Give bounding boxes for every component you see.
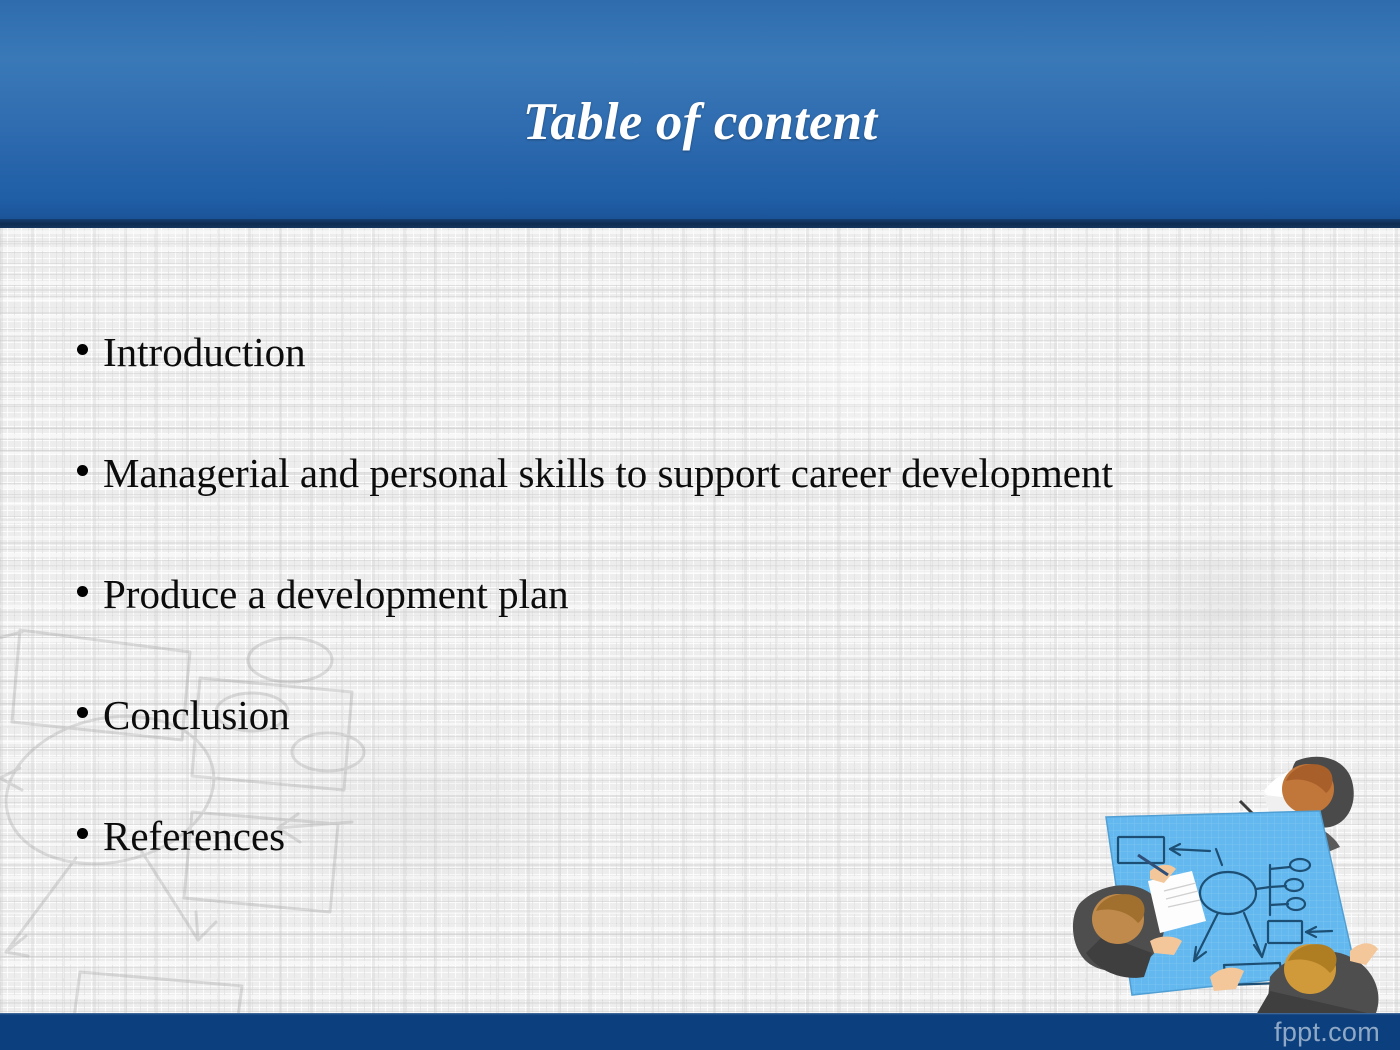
page-title: Table of content (0, 96, 1400, 149)
team-planning-blueprint-illustration-icon (1064, 753, 1394, 1038)
bullet-dot-icon (77, 586, 88, 597)
slide-footer-band: fppt.com (0, 1013, 1400, 1050)
bullet-dot-icon (77, 828, 88, 839)
list-item-label: Managerial and personal skills to suppor… (103, 450, 1113, 496)
list-item: Produce a development plan (66, 542, 1328, 647)
presentation-slide: Table of content Introduction Managerial… (0, 0, 1400, 1050)
list-item: Managerial and personal skills to suppor… (66, 421, 1328, 526)
bullet-dot-icon (77, 707, 88, 718)
fppt-logo: fppt.com (1274, 1016, 1380, 1048)
list-item-label: Produce a development plan (103, 571, 569, 617)
bullet-dot-icon (77, 465, 88, 476)
list-item-label: Introduction (103, 329, 306, 375)
slide-header-band: Table of content (0, 0, 1400, 228)
bullet-dot-icon (77, 344, 88, 355)
list-item-label: Conclusion (103, 692, 290, 738)
list-item: Introduction (66, 300, 1328, 405)
list-item-label: References (103, 813, 285, 859)
